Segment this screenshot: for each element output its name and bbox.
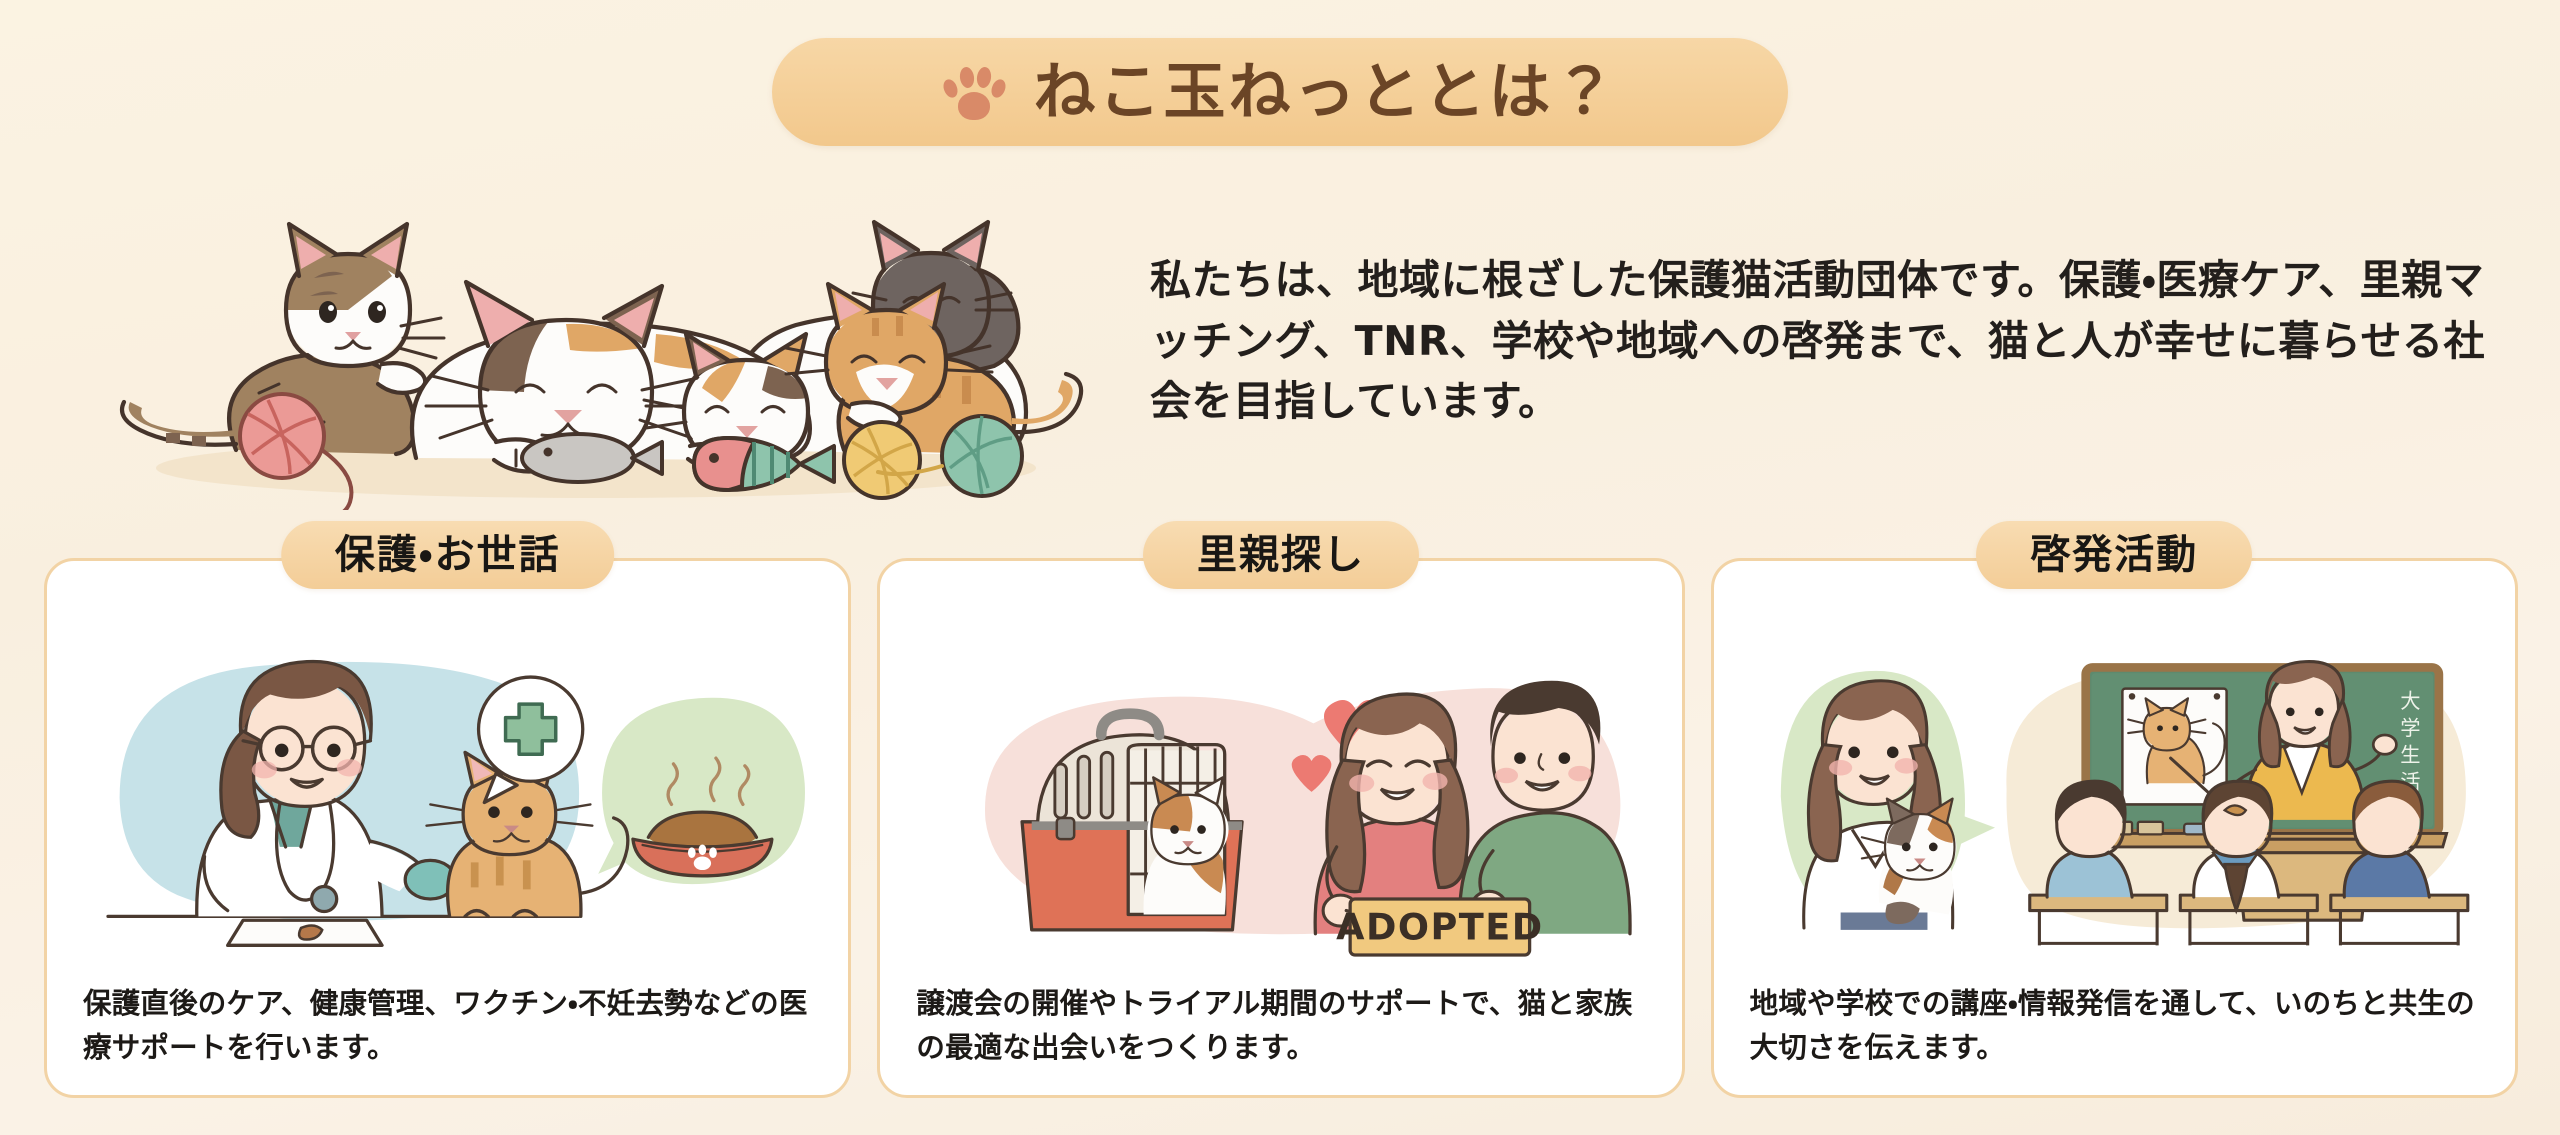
paw-print-icon xyxy=(941,61,1007,123)
intro-paragraph: 私たちは、地域に根ざした保護猫活動団体です。保護・医療ケア、里親マッチング、TN… xyxy=(1150,250,2520,432)
classroom-lecture-illustration: .o3 { fill:none; stroke:#4a3a30; stroke-… xyxy=(1748,619,2481,976)
blackboard-text-line2: 学 xyxy=(2400,716,2420,740)
intro-text: 私たちは、地域に根ざした保護猫活動団体です。保護・医療ケア、里親マッチング、TN… xyxy=(1150,250,2520,432)
page-title: ねこ玉ねっととは？ xyxy=(1033,61,1618,123)
adopted-sign-label: ADOPTED xyxy=(1336,906,1543,949)
card-header-awareness-activity: 啓発活動 xyxy=(1976,521,2252,589)
card-awareness-activity[interactable]: 啓発活動 .o3 { fill:none; stroke:#4a3a30; st… xyxy=(1711,558,2518,1098)
card-caption: 譲渡会の開催やトライアル期間のサポートで、猫と家族の最適な出会いをつくります。 xyxy=(914,976,1647,1073)
blackboard-text-line3: 生 xyxy=(2400,743,2420,767)
infographic-page: ねこ玉ねっととは？ .ol { fill:none; stroke:#45342… xyxy=(0,0,2560,1135)
veterinarian-examining-cat-illustration: .o1 { fill:none; stroke:#4a3a30; stroke-… xyxy=(81,619,814,976)
feature-cards-row: 保護・お世話 .o1 { fill:none; stroke:#4a3a30; … xyxy=(44,558,2518,1098)
card-title: 啓発活動 xyxy=(2030,532,2198,578)
title-banner: ねこ玉ねっととは？ xyxy=(772,38,1788,146)
cat-pile-illustration: .ol { fill:none; stroke:#45342b; stroke-… xyxy=(96,150,1116,510)
card-rescue-care[interactable]: 保護・お世話 .o1 { fill:none; stroke:#4a3a30; … xyxy=(44,558,851,1098)
card-header-foster-matching: 里親探し xyxy=(1143,521,1419,589)
card-caption: 地域や学校での講座・情報発信を通して、いのちと共生の大切さを伝えます。 xyxy=(1748,976,2481,1073)
card-title: 保護・お世話 xyxy=(335,532,561,578)
card-header-rescue-care: 保護・お世話 xyxy=(281,521,615,589)
card-foster-matching[interactable]: 里親探し .o2 { fill:none; stroke:#4a3a30; st… xyxy=(877,558,1684,1098)
blackboard-text-line1: 大 xyxy=(2400,689,2420,713)
card-caption: 保護直後のケア、健康管理、ワクチン・不妊去勢などの医療サポートを行います。 xyxy=(81,976,814,1073)
card-title: 里親探し xyxy=(1197,532,1365,578)
adoption-couple-carrier-illustration: .o2 { fill:none; stroke:#4a3a30; stroke-… xyxy=(914,619,1647,976)
